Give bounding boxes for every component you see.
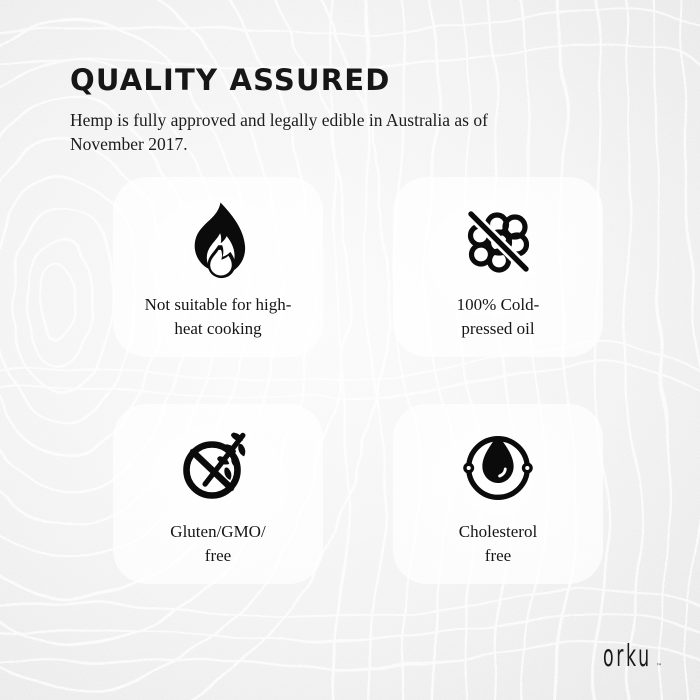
feature-card-label: Cholesterol free bbox=[459, 520, 537, 568]
feature-card-grid: Not suitable for high- heat cooking bbox=[113, 177, 603, 584]
feature-card-label: Gluten/GMO/ free bbox=[170, 520, 265, 568]
no-cluster-icon bbox=[456, 199, 540, 283]
feature-card-label: Not suitable for high- heat cooking bbox=[145, 293, 292, 341]
page-subtitle: Hemp is fully approved and legally edibl… bbox=[70, 108, 530, 156]
cholesterol-drop-icon bbox=[456, 426, 540, 510]
promo-panel: QUALITY ASSURED Hemp is fully approved a… bbox=[0, 0, 700, 700]
feature-card-not-suitable-high-heat: Not suitable for high- heat cooking bbox=[113, 177, 323, 357]
brand-wordmark-wrap: orku bbox=[603, 642, 655, 672]
feature-card-gluten-gmo-free: Gluten/GMO/ free bbox=[113, 404, 323, 584]
feature-card-label: 100% Cold- pressed oil bbox=[457, 293, 540, 341]
gluten-free-icon bbox=[176, 426, 260, 510]
brand-wordmark: orku bbox=[603, 642, 633, 672]
flame-icon bbox=[176, 199, 260, 283]
feature-card-cholesterol-free: Cholesterol free bbox=[393, 404, 603, 584]
trademark-symbol: ™ bbox=[656, 663, 662, 670]
feature-card-cold-pressed-oil: 100% Cold- pressed oil bbox=[393, 177, 603, 357]
brand-logo: orku ™ bbox=[603, 642, 662, 672]
page-title: QUALITY ASSURED bbox=[70, 66, 391, 95]
